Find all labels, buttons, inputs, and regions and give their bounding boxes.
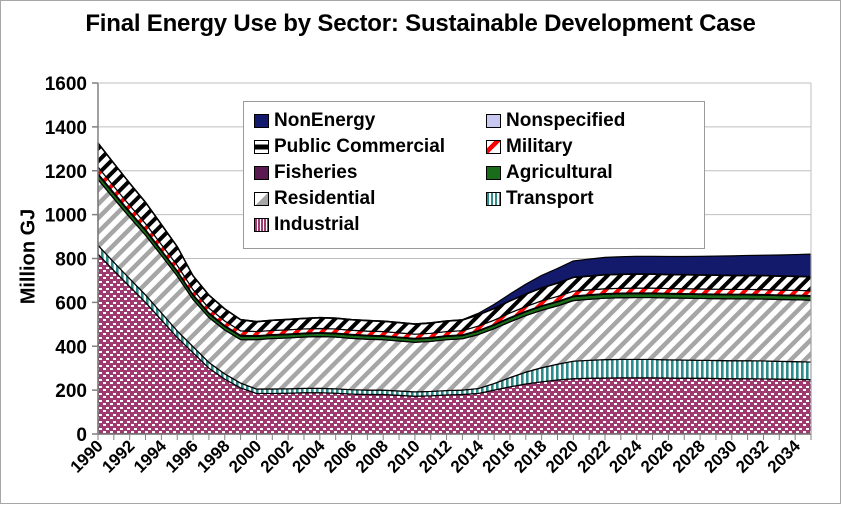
x-tick-label: 2018 [510,436,550,476]
x-tick-label: 2008 [352,436,392,476]
y-axis-label: Million GJ [18,196,41,316]
x-tick-label: 2006 [320,436,360,476]
legend-item-industrial[interactable]: Industrial [254,212,486,237]
x-tick-label: 2014 [447,436,488,477]
x-tick-label: 1998 [193,436,233,476]
x-tick-label: 2034 [764,436,805,477]
legend-item-label: Industrial [274,214,360,236]
legend-item-residential[interactable]: Residential [254,186,486,211]
x-tick-label: 2030 [700,436,740,476]
y-tick-label: 200 [55,381,87,402]
legend-item-fisheries[interactable]: Fisheries [254,160,486,185]
y-tick-label: 600 [55,293,87,314]
purple-solid-swatch [254,166,269,180]
legend-item-label: Fisheries [274,162,357,184]
gray-hatch-swatch [254,192,269,206]
x-tick-label: 2010 [384,436,424,476]
teal-stripe-swatch [486,192,501,206]
legend-item-label: Residential [274,188,375,210]
navy-solid-swatch [254,114,269,128]
x-tick-label: 2032 [732,436,772,476]
black-white-band-swatch [254,140,269,154]
y-tick-label: 800 [55,250,87,271]
legend-item-label: Military [506,136,573,158]
legend-item-military[interactable]: Military [486,134,686,159]
y-tick-label: 1400 [45,118,87,139]
legend-item-nonspecified[interactable]: Nonspecified [486,108,686,133]
legend-item-label: Public Commercial [274,136,445,158]
x-tick-label: 1996 [162,436,202,476]
chart-plot: 02004006008001000120014001600 1990199219… [1,1,841,505]
x-tick-label: 2024 [605,436,646,477]
x-tick-label: 2000 [225,436,265,476]
legend-item-agricultural[interactable]: Agricultural [486,160,686,185]
chart-frame: Final Energy Use by Sector: Sustainable … [0,0,841,504]
y-tick-label: 0 [76,425,87,446]
green-solid-swatch [486,166,501,180]
x-tick-label: 2020 [542,436,582,476]
legend-item-label: NonEnergy [274,110,375,132]
x-tick-label: 2026 [637,436,677,476]
x-tick-label: 1990 [67,436,107,476]
legend-item-label: Transport [506,188,594,210]
x-tick-label: 2016 [479,436,519,476]
y-tick-label: 1600 [45,74,87,95]
legend-item-transport[interactable]: Transport [486,186,686,211]
magenta-grid-swatch [254,218,269,232]
legend-item-label: Agricultural [506,162,613,184]
legend-item-public-commercial[interactable]: Public Commercial [254,134,486,159]
legend-item-nonenergy[interactable]: NonEnergy [254,108,486,133]
x-tick-label: 2012 [415,436,455,476]
x-tick-label: 2004 [288,436,329,477]
chart-legend: NonEnergyNonspecifiedPublic CommercialMi… [243,101,705,249]
legend-item-label: Nonspecified [506,110,625,132]
x-tick-label: 2028 [669,436,709,476]
y-tick-label: 1200 [45,162,87,183]
x-tick-label: 1992 [98,436,138,476]
lavender-solid-swatch [486,114,501,128]
y-axis-ticks: 02004006008001000120014001600 [45,74,98,446]
x-axis-ticks: 1990199219941996199820002002200420062008… [67,434,811,477]
y-tick-label: 1000 [45,206,87,227]
x-tick-label: 1994 [130,436,171,477]
x-tick-label: 2022 [574,436,614,476]
red-diagonal-swatch [486,140,501,154]
x-tick-label: 2002 [257,436,297,476]
y-tick-label: 400 [55,337,87,358]
